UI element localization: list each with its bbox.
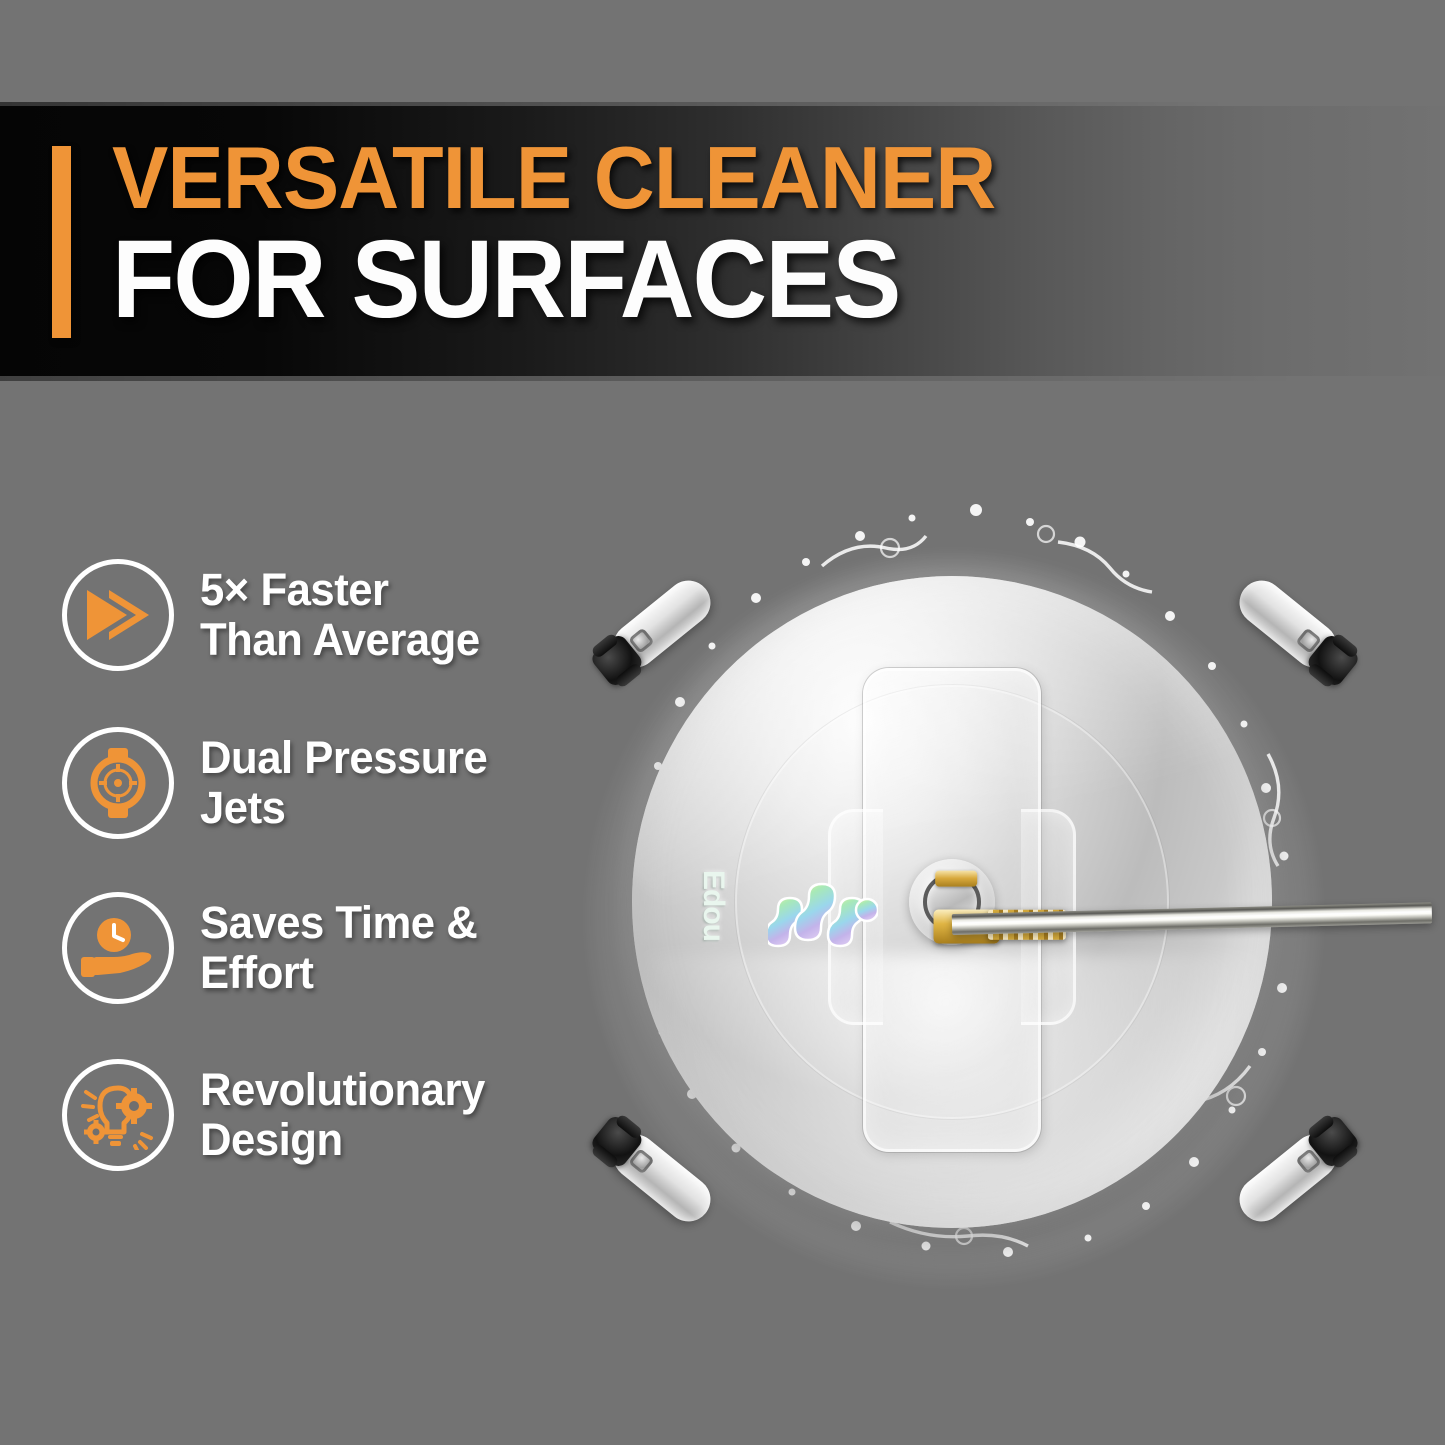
pressure-gauge-icon-badge <box>62 727 174 839</box>
feature-item-faster: 5× Faster Than Average <box>62 555 622 675</box>
feature-line-2: Than Average <box>200 615 480 665</box>
product-marketing-banner: VERSATILE CLEANER FOR SURFACES 5× Faster… <box>0 0 1445 1445</box>
pressure-gauge-icon <box>87 747 149 819</box>
feature-line-2: Effort <box>200 948 477 998</box>
feature-line-1: Dual Pressure <box>200 733 487 783</box>
feature-line-1: Revolutionary <box>200 1065 485 1115</box>
feature-line-2: Jets <box>200 783 487 833</box>
lance-assembly <box>632 576 1272 1228</box>
stainless-lance-wand <box>952 902 1432 935</box>
lightbulb-gears-icon <box>80 1080 156 1150</box>
feature-item-revolutionary: Revolutionary Design <box>62 1055 622 1175</box>
fast-forward-icon-badge <box>62 559 174 671</box>
product-image: Edou <box>560 470 1390 1310</box>
feature-line-1: 5× Faster <box>200 565 480 615</box>
hand-clock-icon-badge <box>62 892 174 1004</box>
feature-item-dual-jets: Dual Pressure Jets <box>62 723 622 843</box>
feature-line-1: Saves Time & <box>200 898 477 948</box>
feature-line-2: Design <box>200 1115 485 1165</box>
feature-label-dual-jets: Dual Pressure Jets <box>200 733 487 833</box>
feature-label-saves-time: Saves Time & Effort <box>200 898 477 998</box>
hand-clock-icon <box>80 917 156 979</box>
feature-label-revolutionary: Revolutionary Design <box>200 1065 485 1165</box>
lightbulb-gears-icon-badge <box>62 1059 174 1171</box>
feature-item-saves-time: Saves Time & Effort <box>62 888 622 1008</box>
feature-list: 5× Faster Than Average <box>0 0 640 1445</box>
feature-label-faster: 5× Faster Than Average <box>200 565 480 665</box>
fast-forward-icon <box>83 586 153 644</box>
